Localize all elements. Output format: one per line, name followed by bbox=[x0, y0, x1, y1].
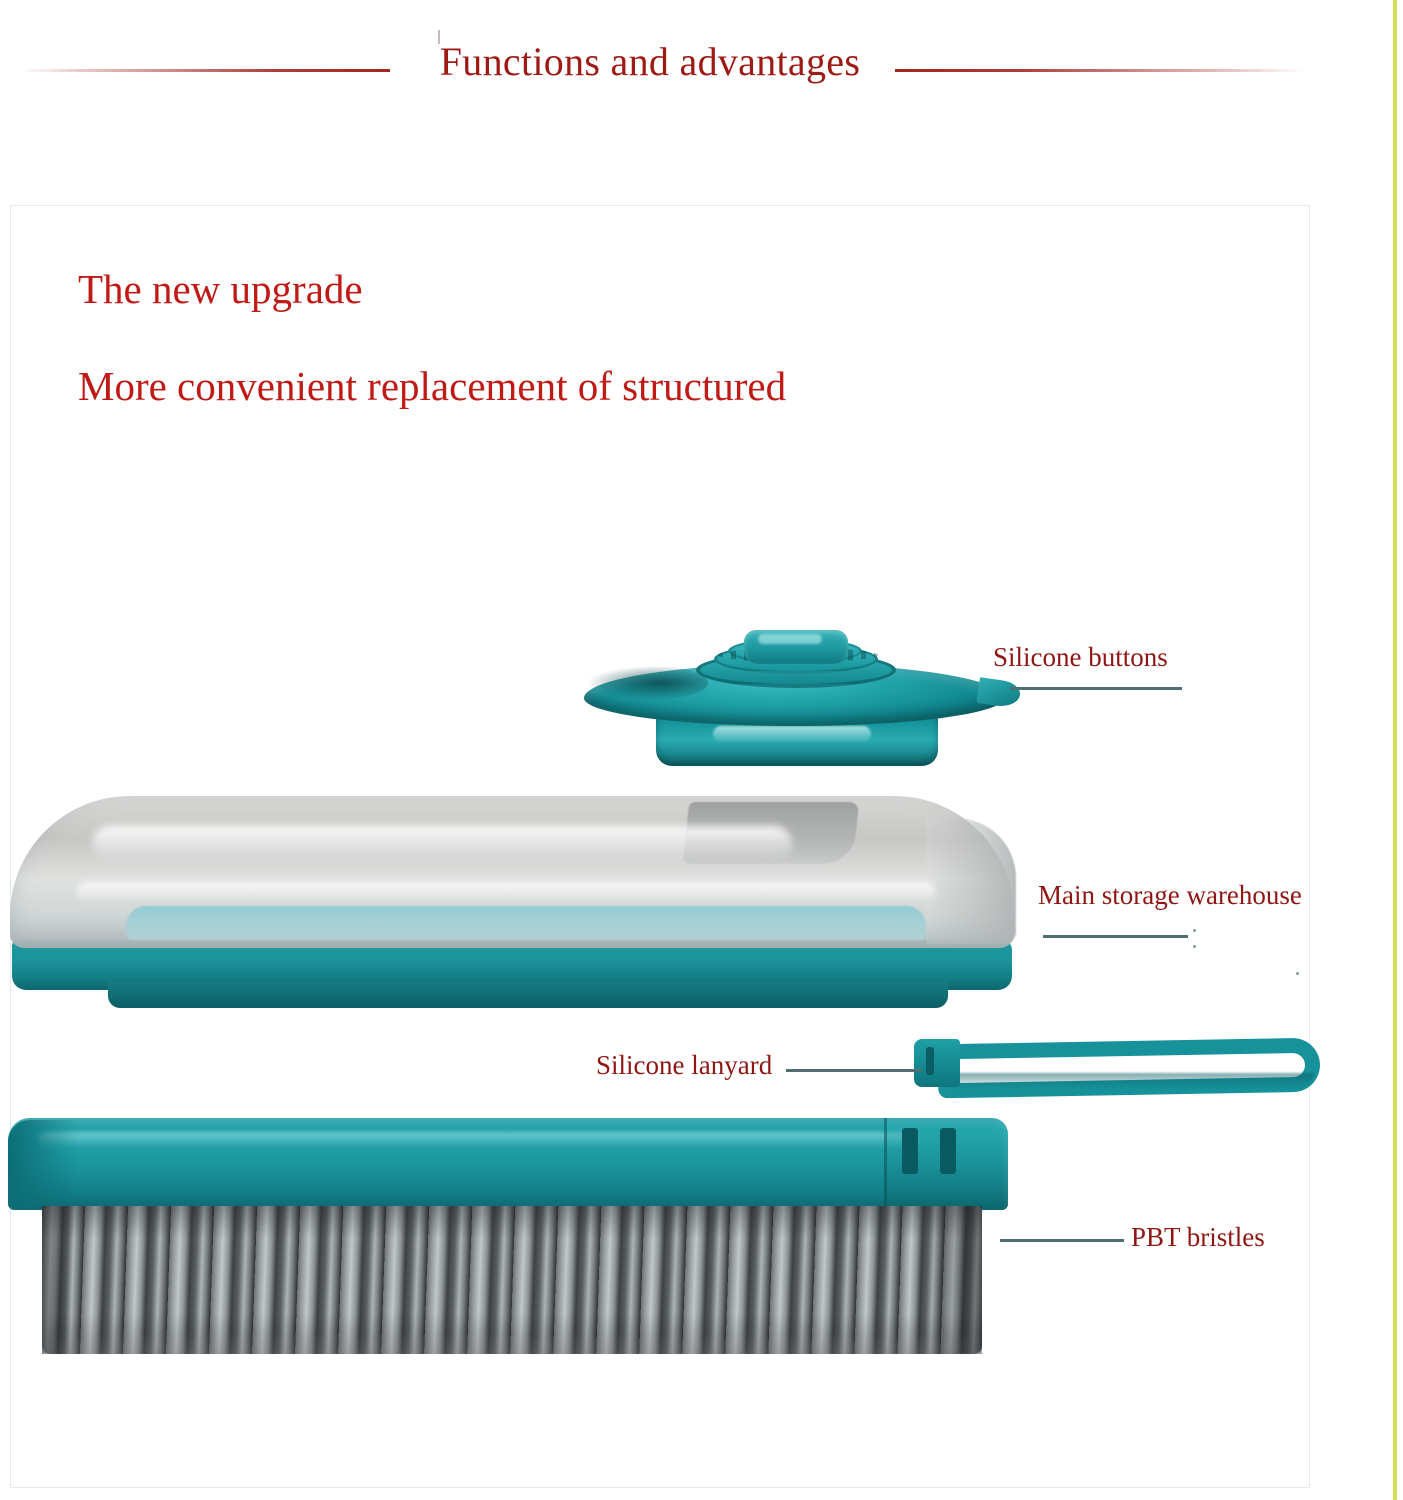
leader-line-silicone-lanyard bbox=[786, 1069, 922, 1072]
storage-inner-tray bbox=[126, 906, 926, 940]
label-main-storage-warehouse: Main storage warehouse bbox=[1038, 880, 1302, 911]
label-silicone-lanyard: Silicone lanyard bbox=[596, 1050, 772, 1081]
lanyard-clip bbox=[914, 1039, 960, 1087]
cap-disc-shadow bbox=[588, 666, 708, 700]
page-title: Functions and advantages bbox=[0, 38, 1300, 85]
brush-latch-slot-right bbox=[940, 1128, 956, 1174]
headline-secondary: More convenient replacement of structure… bbox=[78, 362, 786, 410]
storage-base-foot bbox=[108, 982, 948, 1008]
leader-line-silicone-buttons bbox=[1010, 687, 1182, 690]
storage-dome-right-face bbox=[926, 818, 1016, 944]
brush-body-left-end bbox=[8, 1120, 78, 1208]
leader-line-pbt-bristles bbox=[1000, 1239, 1124, 1242]
lanyard-loop bbox=[938, 1038, 1321, 1099]
leader-line-main-storage-warehouse bbox=[1043, 935, 1188, 938]
silicone-lanyard-illustration bbox=[908, 1035, 1320, 1103]
brush-head-illustration bbox=[0, 1118, 1024, 1368]
pbt-bristles-right-edge-shadow bbox=[924, 1206, 982, 1354]
page-header: Functions and advantages bbox=[0, 0, 1403, 140]
cap-center-button-highlight bbox=[758, 634, 822, 644]
lanyard-clip-notch bbox=[926, 1047, 934, 1075]
leader-dot-upper bbox=[1193, 929, 1196, 932]
silicone-button-cap-illustration bbox=[578, 630, 1020, 770]
main-storage-warehouse-illustration bbox=[0, 790, 1034, 1012]
headline-primary: The new upgrade bbox=[78, 265, 363, 313]
label-silicone-buttons: Silicone buttons bbox=[993, 642, 1168, 673]
pbt-bristles-left-edge-shadow bbox=[42, 1206, 72, 1354]
storage-dome-highlight-mid bbox=[76, 882, 936, 904]
pbt-bristles-shading bbox=[42, 1206, 982, 1354]
brush-body-highlight bbox=[38, 1132, 918, 1148]
lanyard-loop-shadow bbox=[942, 1073, 1314, 1089]
storage-dome-highlight-top bbox=[92, 826, 792, 862]
label-pbt-bristles: PBT bristles bbox=[1131, 1222, 1265, 1253]
cap-skirt-highlight bbox=[713, 726, 871, 742]
leader-dot-lower bbox=[1193, 945, 1196, 948]
right-edge-accent-line bbox=[1393, 0, 1397, 1500]
leader-dot-corner bbox=[1296, 972, 1299, 975]
brush-latch-slot-left bbox=[902, 1128, 918, 1174]
